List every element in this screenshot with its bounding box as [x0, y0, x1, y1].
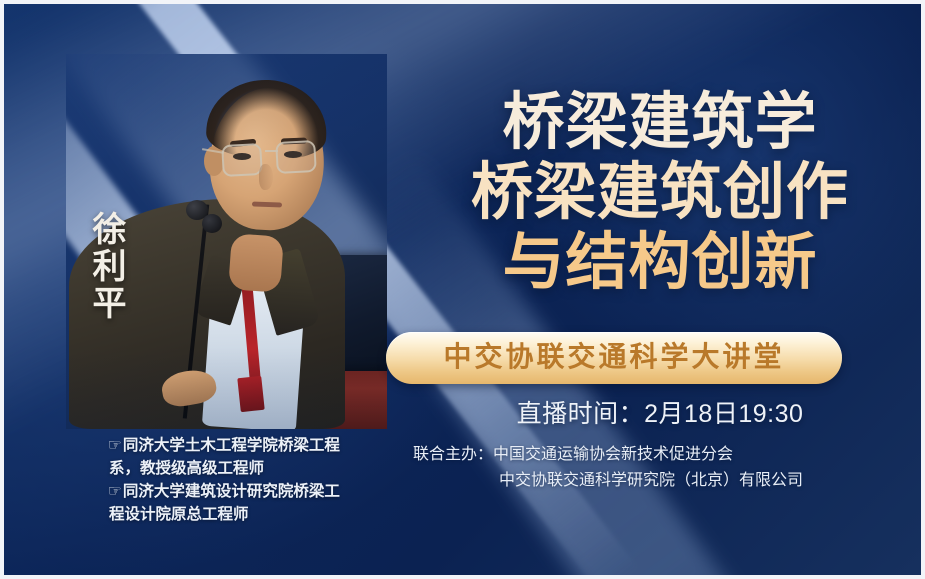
series-banner: 中交协联交通科学大讲堂 — [386, 332, 842, 384]
speaker-name: 徐 利 平 — [88, 212, 132, 323]
credential-line: 程设计院原总工程师 — [108, 503, 400, 526]
title-line-3: 与结构创新 — [400, 228, 920, 298]
speaker-name-char-1: 徐 — [88, 212, 132, 249]
glasses-lens-right — [275, 140, 317, 174]
pointing-hand-icon: ☞ — [108, 437, 122, 454]
badge-card — [238, 376, 265, 412]
title-line-1: 桥梁建筑学 — [400, 88, 920, 158]
glasses-lens-left — [221, 143, 263, 177]
speaker-name-char-2: 利 — [88, 249, 132, 286]
credential-line: ☞同济大学土木工程学院桥梁工程 — [108, 434, 400, 457]
series-banner-pill: 中交协联交通科学大讲堂 — [386, 332, 842, 384]
organizer-line-1: 联合主办：中国交通运输协会新技术促进分会 — [413, 442, 913, 468]
speaker-neck — [228, 233, 284, 292]
credential-line: ☞同济大学建筑设计研究院桥梁工 — [108, 480, 400, 503]
title-line-2: 桥梁建筑创作 — [400, 158, 920, 228]
organizers: 联合主办：中国交通运输协会新技术促进分会 中交协联交通科学研究院（北京）有限公司 — [413, 442, 913, 494]
speaker-credentials: ☞同济大学土木工程学院桥梁工程 系，教授级高级工程师 ☞同济大学建筑设计研究院桥… — [108, 434, 400, 526]
credential-line: 系，教授级高级工程师 — [108, 457, 400, 480]
organizer-line-2: 中交协联交通科学研究院（北京）有限公司 — [413, 468, 913, 494]
pointing-hand-icon: ☞ — [108, 483, 122, 500]
speaker-name-char-3: 平 — [88, 286, 132, 323]
credential-text: 程设计院原总工程师 — [109, 506, 249, 523]
speaker-nose — [259, 164, 273, 190]
credential-text: 系，教授级高级工程师 — [109, 460, 264, 477]
credential-text: 同济大学土木工程学院桥梁工程 — [123, 437, 340, 454]
credential-text: 同济大学建筑设计研究院桥梁工 — [123, 483, 340, 500]
glasses-bridge — [265, 150, 278, 152]
series-banner-label: 中交协联交通科学大讲堂 — [443, 343, 784, 373]
webinar-poster: 徐 利 平 ☞同济大学土木工程学院桥梁工程 系，教授级高级工程师 ☞同济大学建筑… — [0, 0, 925, 579]
live-time: 直播时间：2月18日19:30 — [400, 394, 920, 430]
poster-title: 桥梁建筑学 桥梁建筑创作 与结构创新 — [400, 88, 920, 298]
speaker-mouth — [252, 201, 282, 207]
